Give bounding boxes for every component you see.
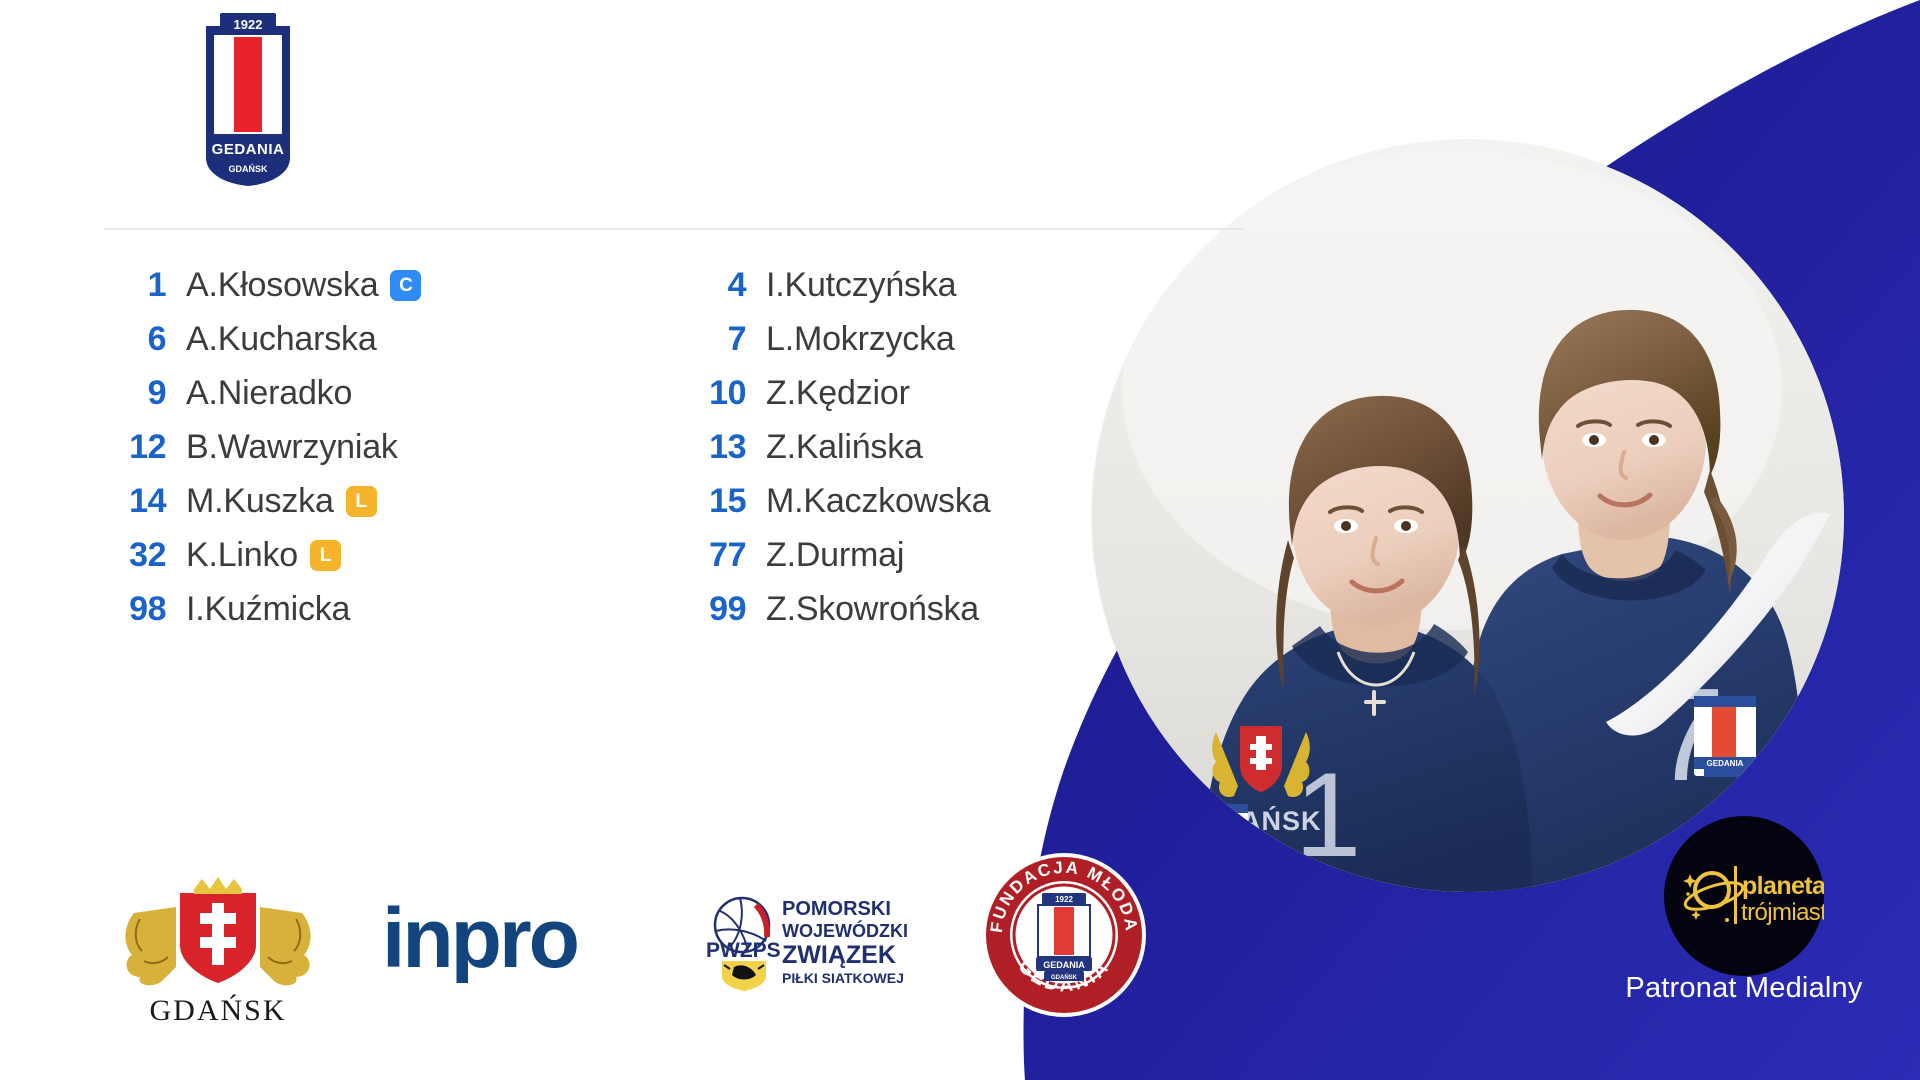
pwzps-line-1: POMORSKI — [782, 898, 891, 920]
roster-row[interactable]: 98 I.Kuźmicka — [104, 582, 584, 636]
poster-canvas: 1922 GEDANIA GDAŃSK 1 A.Kłosowska C 6 A.… — [0, 0, 1920, 1080]
player-name: A.Kłosowska — [186, 266, 378, 305]
pwzps-logo: PWZPS POMORSKI WOJEWÓDZKI ZWIĄZEK PIŁKI … — [700, 895, 944, 991]
player-number: 32 — [104, 536, 166, 575]
roster-row[interactable]: 77 Z.Durmaj — [684, 528, 1164, 582]
sponsor-inpro[interactable]: inpro — [382, 897, 642, 988]
fmg-crest-city: GDAŃSK — [1051, 973, 1078, 981]
sponsor-fundacja-mloda-gedania[interactable]: FUNDACJA MŁODA GEDANIA 1922 GEDANIA GDAŃ… — [980, 851, 1148, 1024]
player-number: 6 — [104, 320, 166, 359]
player-name: Z.Kędzior — [766, 374, 910, 413]
libero-badge: L — [346, 486, 377, 517]
player-name: Z.Durmaj — [766, 536, 904, 575]
svg-text:GEDANIA: GEDANIA — [1707, 759, 1744, 768]
player-number: 13 — [684, 428, 746, 467]
player-number: 14 — [104, 482, 166, 521]
player-name: I.Kuźmicka — [186, 590, 350, 629]
player-number: 98 — [104, 590, 166, 629]
pwzps-line-3: ZWIĄZEK — [782, 941, 896, 969]
player-name: Z.Kalińska — [766, 428, 923, 467]
player-name: B.Wawrzyniak — [186, 428, 398, 467]
header-divider — [104, 228, 1244, 230]
captain-badge: C — [390, 270, 421, 301]
planeta-word-2: trójmiasto — [1741, 899, 1824, 926]
player-name: A.Nieradko — [186, 374, 352, 413]
player-name: Z.Skowrońska — [766, 590, 979, 629]
player-name: I.Kutczyńska — [766, 266, 956, 305]
gedania-club-crest: 1922 GEDANIA GDAŃSK — [196, 8, 300, 190]
patronat-medialny-label: Patronat Medialny — [1572, 972, 1916, 1005]
roster-row[interactable]: 7 L.Mokrzycka — [684, 312, 1164, 366]
team-photo-illustration: 7 GEDANIA — [1092, 140, 1844, 892]
roster-row[interactable]: 4 I.Kutczyńska — [684, 258, 1164, 312]
player-number: 9 — [104, 374, 166, 413]
planeta-word-1: planeta — [1742, 872, 1824, 900]
player-number: 99 — [684, 590, 746, 629]
sponsor-pwzps[interactable]: PWZPS POMORSKI WOJEWÓDZKI ZWIĄZEK PIŁKI … — [700, 895, 940, 996]
roster-row[interactable]: 15 M.Kaczkowska — [684, 474, 1164, 528]
fmg-crest-name: GEDANIA — [1043, 960, 1085, 970]
player-name: K.Linko — [186, 536, 298, 575]
inpro-logo: inpro — [382, 897, 644, 983]
libero-badge: L — [310, 540, 341, 571]
player-number: 12 — [104, 428, 166, 467]
crest-year-text: 1922 — [234, 17, 263, 32]
fmg-inner-crest: 1922 GEDANIA GDAŃSK — [1036, 893, 1092, 981]
pwzps-line-4: PIŁKI SIATKOWEJ — [782, 970, 904, 986]
fmg-crest-year: 1922 — [1055, 895, 1073, 904]
roster-row[interactable]: 99 Z.Skowrońska — [684, 582, 1164, 636]
crest-name-text: GEDANIA — [212, 141, 285, 158]
player-number: 1 — [104, 266, 166, 305]
roster-row[interactable]: 12 B.Wawrzyniak — [104, 420, 584, 474]
player-name: M.Kuszka — [186, 482, 334, 521]
fmg-logo: FUNDACJA MŁODA GEDANIA 1922 GEDANIA GDAŃ… — [980, 851, 1148, 1019]
inpro-wordmark: inpro — [382, 897, 578, 983]
jersey-crest-left — [1200, 804, 1248, 868]
roster-row[interactable]: 10 Z.Kędzior — [684, 366, 1164, 420]
roster-row[interactable]: 6 A.Kucharska — [104, 312, 584, 366]
pwzps-line-2: WOJEWÓDZKI — [782, 920, 908, 941]
pwzps-abbr: PWZPS — [706, 939, 781, 962]
roster-column-right: 4 I.Kutczyńska 7 L.Mokrzycka 10 Z.Kędzio… — [684, 258, 1164, 636]
player-name: M.Kaczkowska — [766, 482, 990, 521]
roster-row[interactable]: 9 A.Nieradko — [104, 366, 584, 420]
player-number: 77 — [684, 536, 746, 575]
sponsor-gdansk[interactable]: GDAŃSK — [118, 867, 318, 1028]
player-number: 15 — [684, 482, 746, 521]
roster-column-left: 1 A.Kłosowska C 6 A.Kucharska 9 A.Nierad… — [104, 258, 584, 636]
crest-city-text: GDAŃSK — [228, 164, 268, 174]
player-number: 7 — [684, 320, 746, 359]
gdansk-label: GDAŃSK — [118, 994, 318, 1028]
planeta-trojmiasto-logo[interactable]: planeta trójmiasto — [1664, 816, 1824, 976]
jersey-crest-right: GEDANIA — [1694, 696, 1756, 777]
gdansk-coat-of-arms-icon — [118, 867, 318, 987]
sponsor-strip: GDAŃSK inpro PWZPS — [0, 830, 1060, 1080]
team-photo: 7 GEDANIA — [1092, 140, 1844, 892]
player-name: A.Kucharska — [186, 320, 377, 359]
roster-row[interactable]: 1 A.Kłosowska C — [104, 258, 584, 312]
player-number: 10 — [684, 374, 746, 413]
player-name: L.Mokrzycka — [766, 320, 955, 359]
player-number: 4 — [684, 266, 746, 305]
roster-row[interactable]: 14 M.Kuszka L — [104, 474, 584, 528]
roster-row[interactable]: 13 Z.Kalińska — [684, 420, 1164, 474]
roster-list: 1 A.Kłosowska C 6 A.Kucharska 9 A.Nierad… — [104, 258, 1164, 636]
planeta-badge-icon: planeta trójmiasto — [1664, 816, 1824, 976]
team-photo-bubble: 7 GEDANIA — [1092, 140, 1844, 892]
roster-row[interactable]: 32 K.Linko L — [104, 528, 584, 582]
